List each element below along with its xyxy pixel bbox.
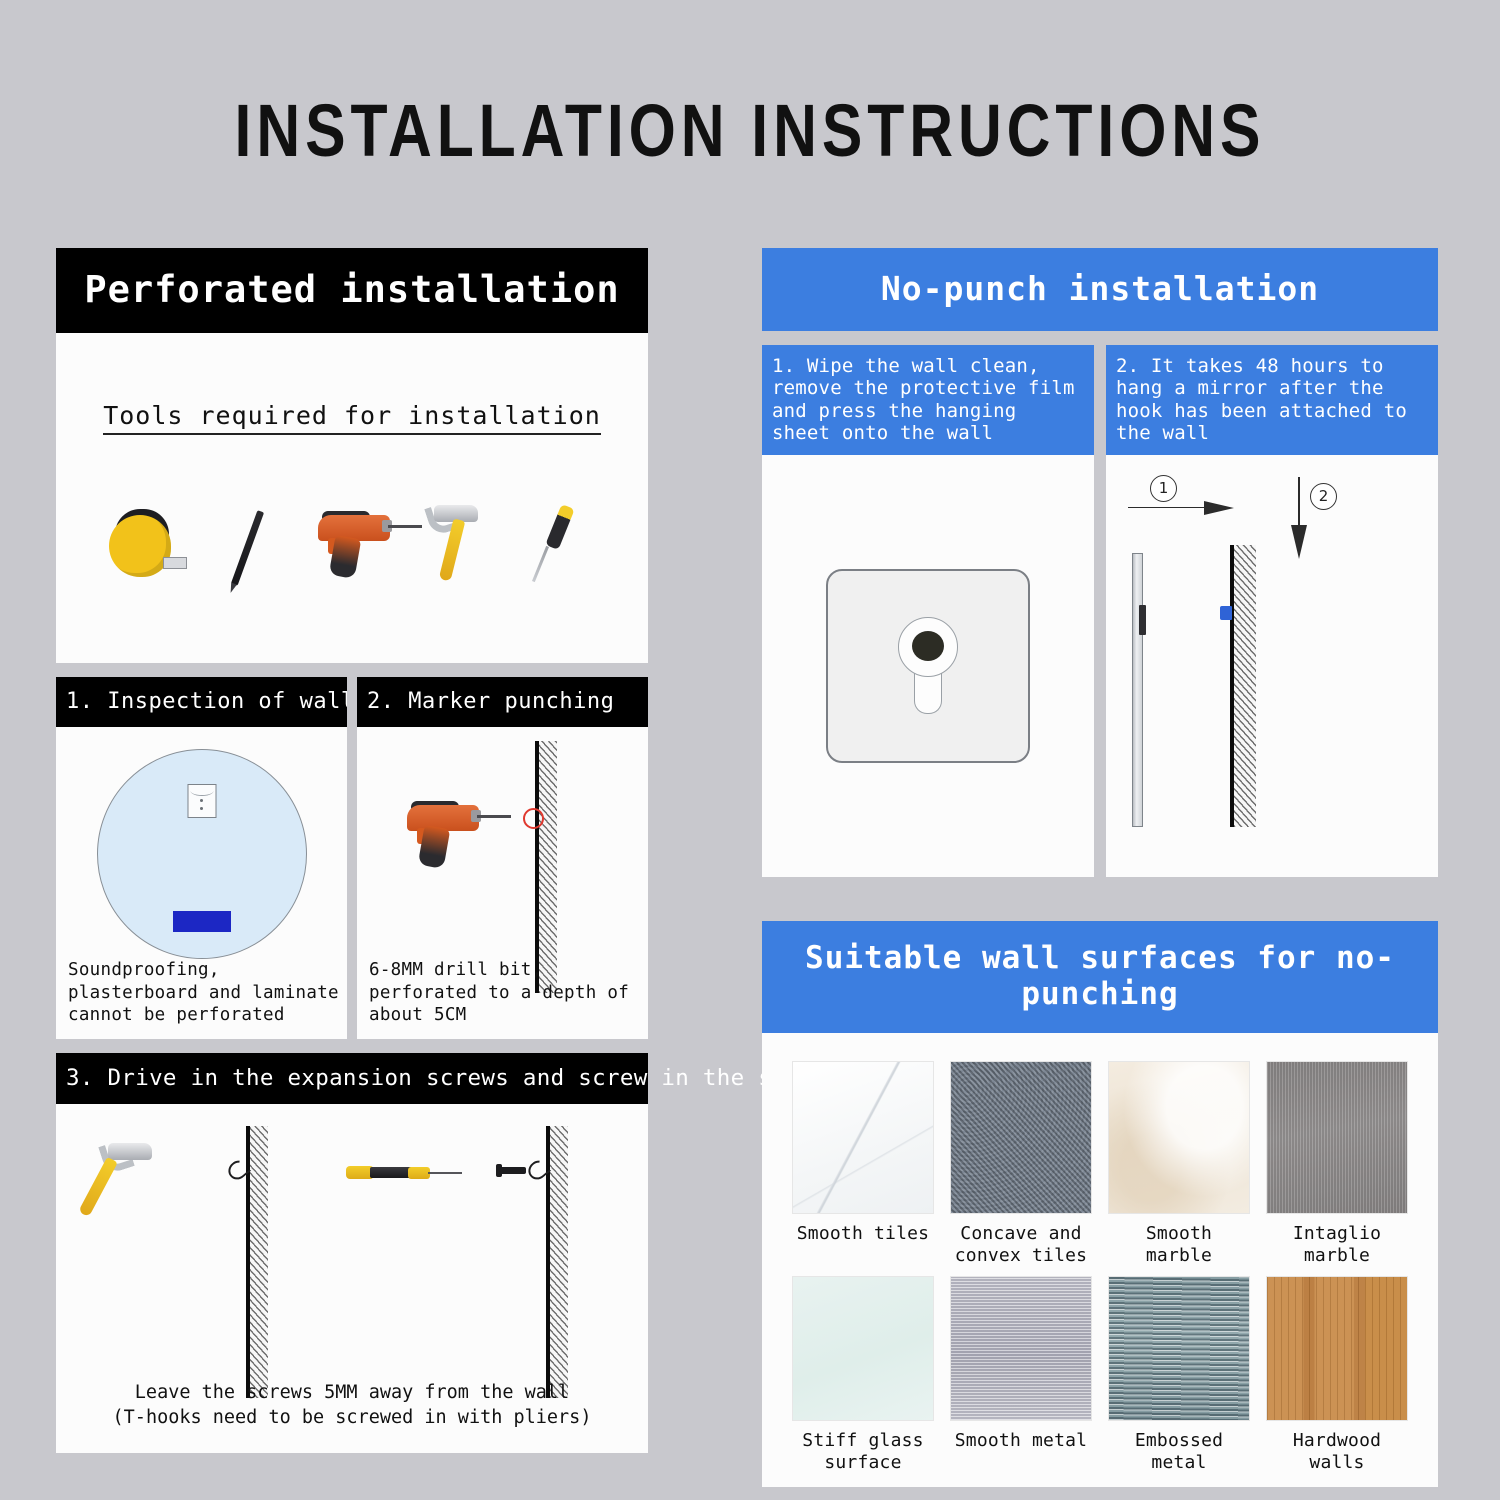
- step-1-illustration: Soundproofing, plasterboard and laminate…: [56, 727, 347, 1039]
- no-punch-steps-row: 1. Wipe the wall clean, remove the prote…: [762, 345, 1438, 877]
- mirror-circle-diagram: [97, 749, 307, 959]
- hammer-icon: [408, 493, 500, 603]
- no-punch-step-1-text: 1. Wipe the wall clean, remove the prote…: [762, 345, 1094, 455]
- step-inspection-of-walls: 1. Inspection of walls Soundproofing, pl…: [56, 677, 347, 1039]
- embossed-metal-swatch: [1108, 1276, 1250, 1421]
- no-punch-installation-banner: No-punch installation: [762, 248, 1438, 331]
- surface-label: Concave and convex tiles: [950, 1223, 1092, 1268]
- step-3-caption-line-2: (T-hooks need to be screwed in with plie…: [56, 1406, 648, 1431]
- surface-item: Intaglio marble: [1266, 1061, 1408, 1268]
- mirror-hook-slot-icon: [1139, 605, 1146, 635]
- no-punch-step-1: 1. Wipe the wall clean, remove the prote…: [762, 345, 1094, 877]
- step-3-illustration: Leave the screws 5MM away from the wall …: [56, 1104, 648, 1453]
- step-marker-punching: 2. Marker punching 6-8MM drill bit, perf…: [357, 677, 648, 1039]
- surface-item: Hardwood walls: [1266, 1276, 1408, 1475]
- arrow-1-line: [1128, 507, 1206, 509]
- arrow-2-head: [1291, 525, 1307, 559]
- pencil-icon: [204, 493, 296, 603]
- suitable-wall-surfaces-section: Suitable wall surfaces for no-punching S…: [762, 921, 1438, 1487]
- awl-icon: [509, 493, 601, 603]
- surface-label: Smooth tiles: [792, 1223, 934, 1246]
- hanger-plate-icon: [187, 784, 216, 818]
- smooth-metal-swatch: [950, 1276, 1092, 1421]
- hatched-wall-icon: [535, 741, 557, 993]
- smooth-tiles-swatch: [792, 1061, 934, 1214]
- suitable-wall-surfaces-banner: Suitable wall surfaces for no-punching: [762, 921, 1438, 1033]
- arrow-2-line: [1298, 477, 1300, 529]
- surface-item: Embossed metal: [1108, 1276, 1250, 1475]
- surfaces-grid: Smooth tiles Concave and convex tiles Sm…: [792, 1061, 1408, 1475]
- surface-label: Stiff glass surface: [792, 1430, 934, 1475]
- surface-label: Embossed metal: [1108, 1430, 1250, 1475]
- step-1-caption: Soundproofing, plasterboard and laminate…: [68, 959, 339, 1027]
- tools-required-text: Tools required for installation: [103, 401, 601, 435]
- surface-item: Smooth marble: [1108, 1061, 1250, 1268]
- hanging-sheet-icon: [826, 569, 1030, 763]
- mirror-hanging-illustration: 1 2: [1106, 455, 1438, 877]
- step-2-header: 2. Marker punching: [357, 677, 648, 727]
- keyhole-hole-icon: [912, 631, 944, 661]
- step-3-caption-line-1: Leave the screws 5MM away from the wall: [56, 1381, 648, 1406]
- tools-required-label: Tools required for installation: [56, 401, 648, 430]
- drill-mark-icon: [523, 808, 544, 829]
- perforated-installation-column: Perforated installation Tools required f…: [56, 248, 648, 1453]
- marker-1-icon: 1: [1150, 475, 1177, 502]
- step-3-header: 3. Drive in the expansion screws and scr…: [56, 1053, 648, 1104]
- perforated-steps-row: 1. Inspection of walls Soundproofing, pl…: [56, 677, 648, 1039]
- marker-2-icon: 2: [1310, 483, 1337, 510]
- hanging-sheet-illustration: [762, 455, 1094, 877]
- surface-label: Hardwood walls: [1266, 1430, 1408, 1475]
- stiff-glass-swatch: [792, 1276, 934, 1421]
- drill-icon: [395, 795, 491, 873]
- step-2-caption: 6-8MM drill bit, perforated to a depth o…: [369, 959, 640, 1027]
- surface-item: Stiff glass surface: [792, 1276, 934, 1475]
- smooth-marble-swatch: [1108, 1061, 1250, 1214]
- hatched-wall-icon: [546, 1126, 568, 1398]
- blue-hook-icon: [1220, 606, 1232, 620]
- tools-required-card: Tools required for installation: [56, 333, 648, 663]
- no-punch-step-2-text: 2. It takes 48 hours to hang a mirror af…: [1106, 345, 1438, 455]
- tape-measure-icon: [103, 493, 195, 603]
- surface-item: Concave and convex tiles: [950, 1061, 1092, 1268]
- no-punch-step-2: 2. It takes 48 hours to hang a mirror af…: [1106, 345, 1438, 877]
- mirror-panel-icon: [1132, 553, 1143, 827]
- intaglio-marble-swatch: [1266, 1061, 1408, 1214]
- perforated-installation-banner: Perforated installation: [56, 248, 648, 333]
- page-title: INSTALLATION INSTRUCTIONS: [135, 88, 1365, 173]
- hardwood-walls-swatch: [1266, 1276, 1408, 1421]
- surface-label: Smooth marble: [1108, 1223, 1250, 1268]
- step-3-caption: Leave the screws 5MM away from the wall …: [56, 1381, 648, 1431]
- surface-label: Intaglio marble: [1266, 1223, 1408, 1268]
- step-2-illustration: 6-8MM drill bit, perforated to a depth o…: [357, 727, 648, 1039]
- hatched-wall-icon: [1230, 545, 1256, 827]
- hatched-wall-icon: [246, 1126, 268, 1398]
- surface-item: Smooth metal: [950, 1276, 1092, 1475]
- surface-item: Smooth tiles: [792, 1061, 934, 1268]
- electric-drill-icon: [306, 493, 398, 603]
- no-punch-installation-column: No-punch installation 1. Wipe the wall c…: [762, 248, 1438, 1487]
- arrow-1-head: [1204, 501, 1234, 515]
- tools-row: [56, 488, 648, 608]
- concave-convex-tiles-swatch: [950, 1061, 1092, 1214]
- step-1-header: 1. Inspection of walls: [56, 677, 347, 727]
- step-drive-expansion-screws: 3. Drive in the expansion screws and scr…: [56, 1053, 648, 1453]
- surfaces-grid-card: Smooth tiles Concave and convex tiles Sm…: [762, 1033, 1438, 1487]
- blue-bar-marker: [173, 911, 231, 932]
- surface-label: Smooth metal: [950, 1430, 1092, 1453]
